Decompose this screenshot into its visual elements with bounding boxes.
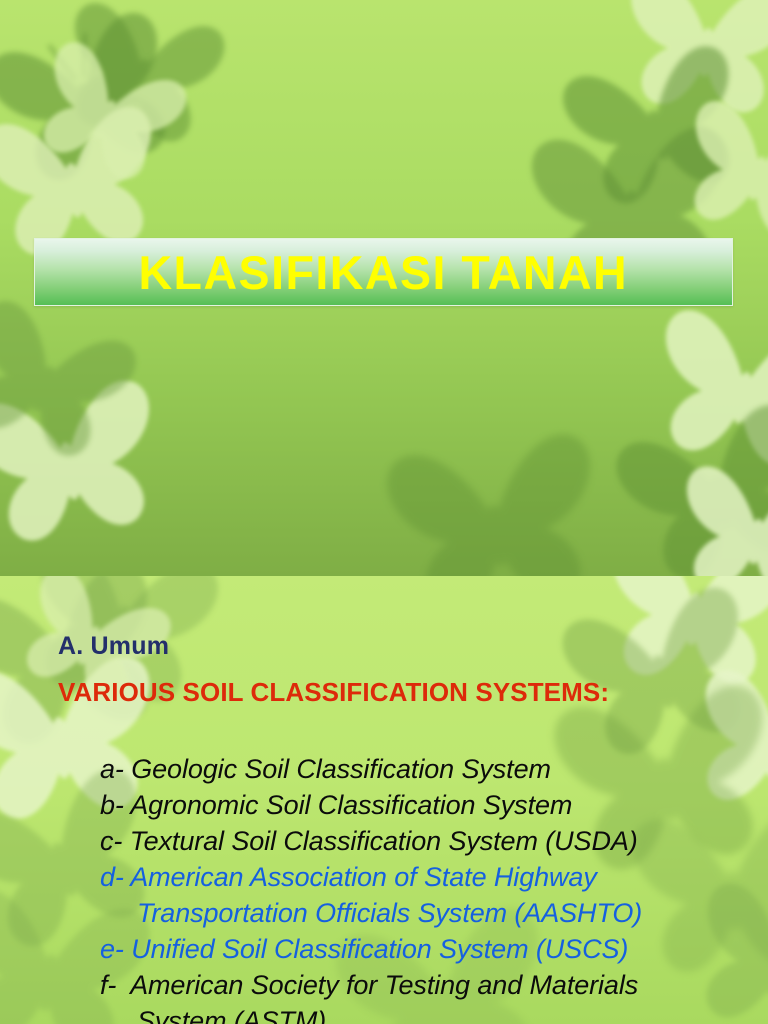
list-item: e- Unified Soil Classification System (U… — [100, 931, 760, 967]
list-item-label: Unified Soil Classification System (USCS… — [131, 934, 628, 964]
butterfly-icon — [594, 375, 768, 576]
butterfly-icon — [637, 285, 768, 485]
butterfly-icon — [46, 0, 239, 161]
title-banner: KLASIFIKASI TANAH — [34, 238, 733, 306]
list-item-label: American Society for Testing and Materia… — [130, 970, 638, 1000]
list-item: d- American Association of State Highway… — [100, 859, 760, 931]
list-item-label: Geologic Soil Classification System — [131, 754, 551, 784]
butterfly-icon — [367, 405, 623, 576]
list-item-label: American Association of State Highway — [130, 862, 597, 892]
butterfly-icon — [0, 354, 179, 560]
list-item-marker: b- — [100, 790, 124, 820]
butterfly-icon — [665, 444, 768, 576]
butterfly-icon — [612, 0, 768, 129]
slide-title-text: KLASIFIKASI TANAH — [139, 249, 629, 296]
list-item-continuation: Transportation Officials System (AASHTO) — [100, 895, 760, 931]
list-item-continuation: System (ASTM) — [100, 1003, 760, 1024]
list-item-marker: f- — [100, 970, 116, 1000]
section-heading: VARIOUS SOIL CLASSIFICATION SYSTEMS: — [58, 677, 609, 708]
title-slide: KLASIFIKASI TANAH — [0, 0, 768, 576]
list-item-marker: d- — [100, 862, 124, 892]
butterfly-icon — [592, 576, 768, 700]
list-item: c- Textural Soil Classification System (… — [100, 823, 760, 859]
list-item-label: Textural Soil Classification System (USD… — [130, 826, 638, 856]
list-item-label: Agronomic Soil Classification System — [130, 790, 572, 820]
section-label: A. Umum — [58, 632, 169, 661]
list-item: f- American Society for Testing and Mate… — [100, 967, 760, 1024]
butterfly-icon — [13, 17, 205, 203]
butterfly-icon — [543, 19, 767, 225]
butterfly-icon — [665, 78, 768, 257]
butterfly-icon — [0, 576, 190, 769]
list-item-marker: e- — [100, 934, 124, 964]
butterfly-icon — [0, 0, 202, 205]
slide-deck: KLASIFIKASI TANAH — [0, 0, 768, 1024]
list-item-marker: c- — [100, 826, 122, 856]
classification-systems-list: a- Geologic Soil Classification System b… — [100, 751, 760, 1024]
list-item: a- Geologic Soil Classification System — [100, 751, 760, 787]
list-item-marker: a- — [100, 754, 124, 784]
list-item: b- Agronomic Soil Classification System — [100, 787, 760, 823]
